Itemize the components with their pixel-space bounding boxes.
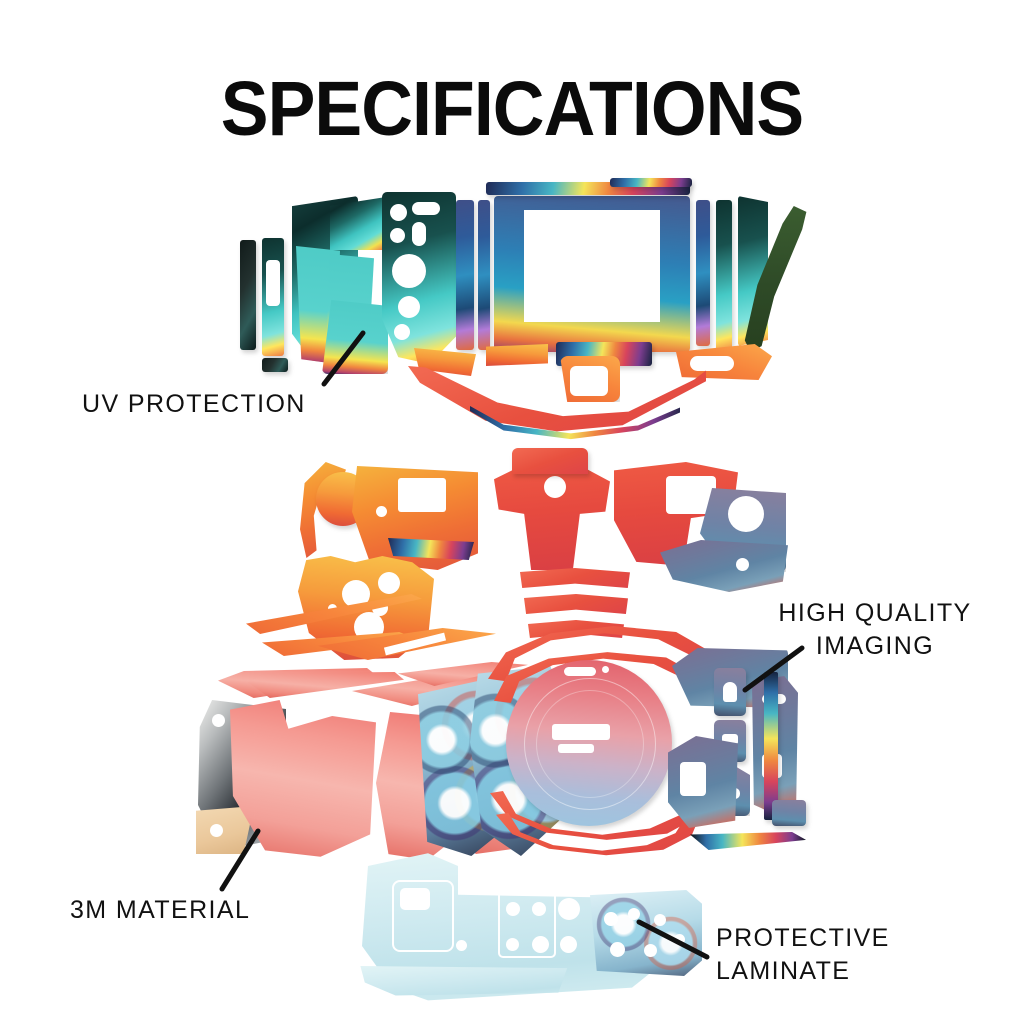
skin-piece-top-button-plate [382,192,456,364]
callout-label-3m-material: 3M MATERIAL [70,894,250,927]
skin-piece-top-arc [408,366,706,442]
skin-piece-top-orange-b [486,344,548,366]
skin-piece-right-rainbow-edge [764,672,778,820]
skin-piece-right-bottom [668,736,738,828]
skin-piece-right-thin-strip [690,832,806,850]
skin-piece-viewfinder-right [696,200,710,346]
skin-piece-top-orange-d [560,356,620,402]
skin-piece-right-button-a [714,668,746,716]
skin-piece-strap-foot [676,344,772,380]
skin-piece-mid-center-plate [494,462,610,570]
skin-piece-top-strip-a [240,240,256,350]
skin-piece-lcd-top-bar-2 [610,178,692,187]
skin-piece-top-center-c [322,300,388,374]
skin-piece-lcd-bezel [494,196,690,352]
skin-piece-right-small-tab [772,800,806,826]
skin-piece-bottom-bubble-panel [590,890,702,976]
skin-piece-viewfinder-left-2 [478,200,490,350]
specifications-page: SPECIFICATIONS UV PROTECTION HIGH QUALIT… [0,0,1024,1024]
skin-piece-viewfinder-right-2 [716,200,732,352]
skin-piece-top-strip-c [262,358,288,372]
skin-piece-mid-band-a [520,568,630,588]
skin-piece-mid-far-right-2 [660,540,788,592]
skin-piece-top-strip-b [262,238,284,356]
skin-piece-lens-mount-disc [506,660,672,826]
callout-label-high-quality-imaging: HIGH QUALITY IMAGING [760,597,990,663]
camera-skin-graphic [0,0,1024,1024]
callout-label-uv-protection: UV PROTECTION [82,388,306,421]
page-title: SPECIFICATIONS [36,68,988,150]
skin-piece-viewfinder-left [456,200,474,350]
skin-piece-mid-center-cap [512,448,588,474]
callout-label-protective-laminate: PROTECTIVE LAMINATE [716,922,890,988]
skin-piece-mid-band-b [524,594,628,614]
